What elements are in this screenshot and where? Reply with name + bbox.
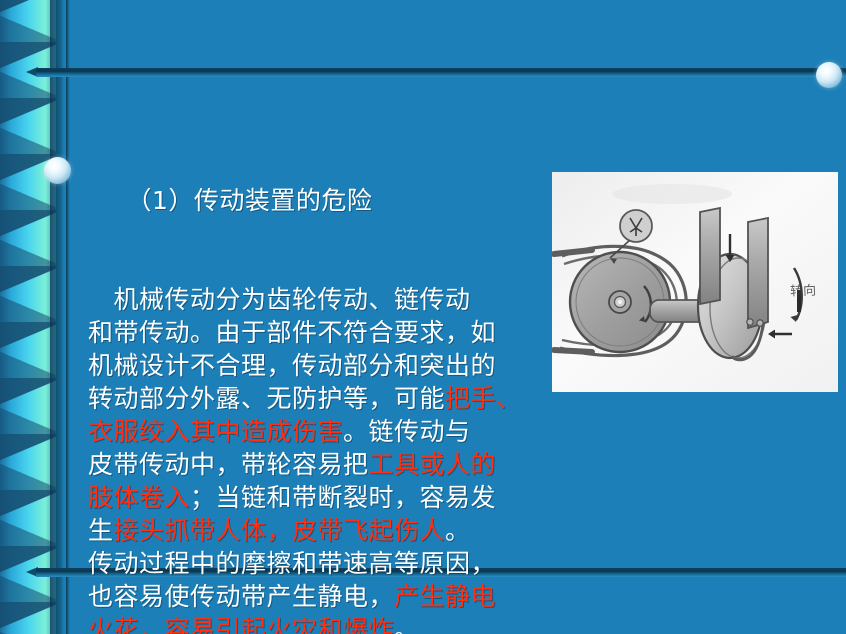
text-run: ；当链和带断裂时，容易发 bbox=[190, 483, 496, 512]
text-run: 转动部分外露、无防护等，可能 bbox=[88, 384, 445, 413]
highlighted-text-run: 工具或人的 bbox=[369, 450, 497, 479]
text-run: 机械设计不合理，传动部分和突出的 bbox=[88, 351, 496, 380]
ribbon-inner-edge bbox=[56, 0, 64, 634]
text-run: 生 bbox=[88, 516, 114, 545]
top-divider-bar bbox=[36, 68, 846, 77]
body-line: 转动部分外露、无防护等，可能把手、 bbox=[88, 382, 548, 415]
body-line: 生接头抓带人体，皮带飞起伤人。 bbox=[88, 514, 548, 547]
body-line: 也容易使传动带产生静电，产生静电 bbox=[88, 580, 548, 613]
body-line: 和带传动。由于部件不符合要求，如 bbox=[88, 316, 548, 349]
rotation-direction-label: 转向 bbox=[790, 280, 817, 300]
body-line: 皮带传动中，带轮容易把工具或人的 bbox=[88, 448, 548, 481]
body-line: 肢体卷入；当链和带断裂时，容易发 bbox=[88, 481, 548, 514]
text-run: 机械传动分为齿轮传动、链传动 bbox=[88, 285, 471, 314]
slide-canvas: （1）传动装置的危险 机械传动分为齿轮传动、链传动和带传动。由于部件不符合要求，… bbox=[0, 0, 846, 634]
text-run: 和带传动。由于部件不符合要求，如 bbox=[88, 318, 496, 347]
page-title: （1）传动装置的危险 bbox=[88, 184, 548, 217]
highlighted-text-run: 接头抓带人体，皮带飞起伤人 bbox=[114, 516, 446, 545]
highlighted-text-run: 肢体卷入 bbox=[88, 483, 190, 512]
text-run: 皮带传动中，带轮容易把 bbox=[88, 450, 369, 479]
highlighted-text-run: 产生静电 bbox=[394, 582, 496, 611]
highlighted-text-run: 把手、 bbox=[445, 384, 522, 413]
body-line: 火花，容易引起火灾和爆炸。 bbox=[88, 613, 548, 634]
vertical-frame-rule bbox=[66, 0, 70, 634]
body-line: 机械设计不合理，传动部分和突出的 bbox=[88, 349, 548, 382]
body-line: 传动过程中的摩擦和带速高等原因， bbox=[88, 547, 548, 580]
text-run: 也容易使传动带产生静电， bbox=[88, 582, 394, 611]
slide-body-text: （1）传动装置的危险 机械传动分为齿轮传动、链传动和带传动。由于部件不符合要求，… bbox=[88, 118, 548, 634]
body-line: 衣服绞入其中造成伤害。链传动与 bbox=[88, 415, 548, 448]
text-run: 。 bbox=[445, 516, 471, 545]
text-run: 。链传动与 bbox=[343, 417, 471, 446]
highlighted-text-run: 衣服绞入其中造成伤害 bbox=[88, 417, 343, 446]
bullet-sphere-right bbox=[816, 62, 842, 88]
text-run: 。 bbox=[394, 615, 420, 634]
body-line: 机械传动分为齿轮传动、链传动 bbox=[88, 283, 548, 316]
highlighted-text-run: 火花，容易引起火灾和爆炸 bbox=[88, 615, 394, 634]
belt-drive-illustration: 转向 bbox=[552, 172, 838, 392]
text-run: 传动过程中的摩擦和带速高等原因， bbox=[88, 549, 496, 578]
bullet-sphere-left bbox=[44, 157, 71, 184]
